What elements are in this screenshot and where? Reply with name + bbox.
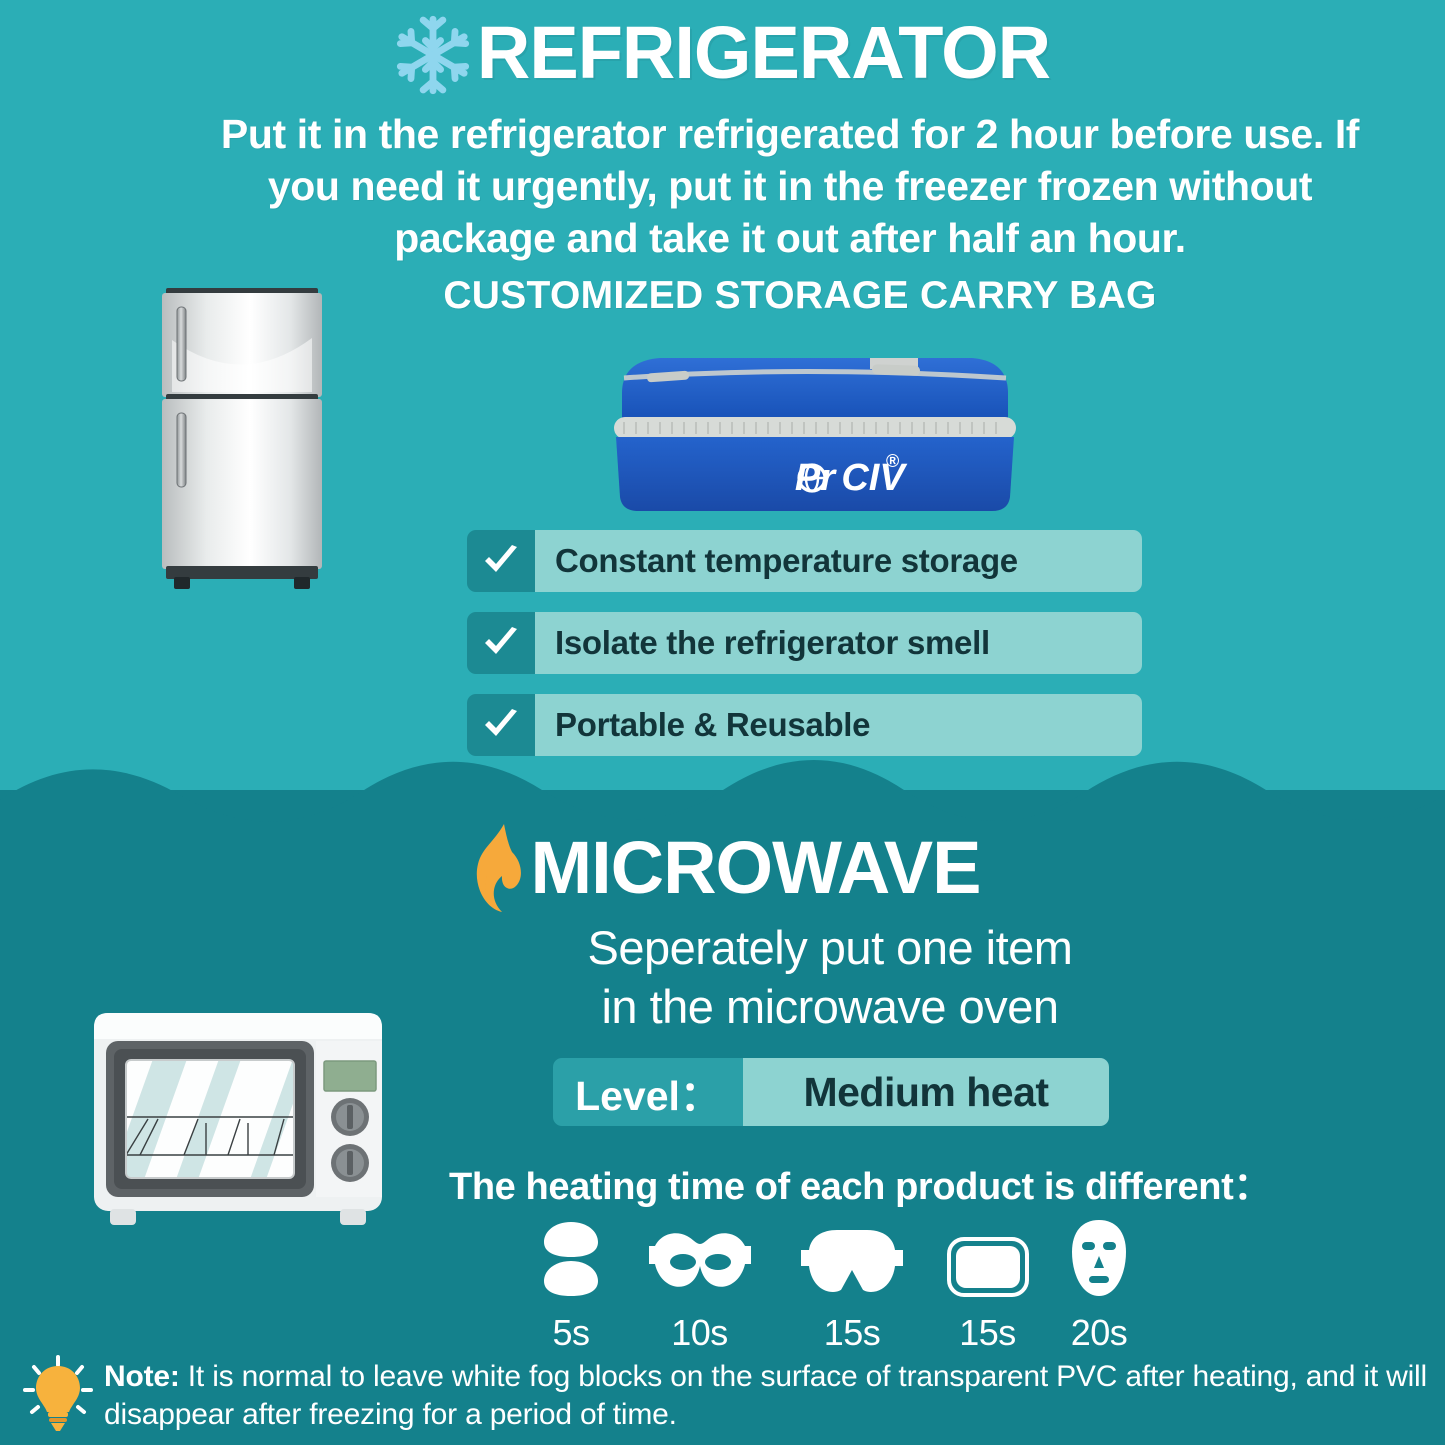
checkbox-checked [467,612,535,674]
refrigerator-header: REFRIGERATOR [0,8,1445,98]
checkbox-checked [467,694,535,756]
gel-pad-icon [946,1236,1030,1298]
microwave-oven-illustration [88,1005,388,1250]
heating-time-label: 5s [552,1312,589,1354]
check-icon [482,544,520,578]
feature-label: Isolate the refrigerator smell [535,612,1142,674]
refrigerator-instructions: Put it in the refrigerator refrigerated … [200,108,1380,264]
level-label: Level： [553,1058,743,1126]
feature-item: Portable & Reusable [467,694,1142,756]
check-icon [482,708,520,742]
heating-time-label: 10s [671,1312,728,1354]
bottom-note: Note: It is normal to leave white fog bl… [22,1352,1432,1435]
feature-checklist: Constant temperature storage Isolate the… [467,530,1142,776]
feature-item: Isolate the refrigerator smell [467,612,1142,674]
microwave-instructions-line1: Seperately put one item [430,918,1230,977]
flame-icon [464,822,536,914]
feature-item: Constant temperature storage [467,530,1142,592]
heating-time-label: 15s [824,1312,881,1354]
feature-label: Constant temperature storage [535,530,1142,592]
oven-display [324,1061,376,1091]
eye-mask-icon [641,1226,759,1298]
storage-carry-bag-image: Pr CIV ® [600,345,1030,520]
level-value: Medium heat [743,1058,1109,1126]
note-body: It is normal to leave white fog blocks o… [104,1360,1427,1431]
microwave-instructions-line2: in the microwave oven [430,977,1230,1036]
power-level-bar: Level： Medium heat [553,1058,1109,1126]
heating-time-item: 5s [540,1220,602,1354]
heating-time-note: The heating time of each product is diff… [330,1155,1390,1210]
lightbulb-icon [22,1354,94,1434]
checkbox-checked [467,530,535,592]
microwave-instructions: Seperately put one item in the microwave… [430,918,1230,1036]
note-text: Note: It is normal to leave white fog bl… [104,1352,1432,1435]
heating-time-label: 20s [1071,1312,1128,1354]
refrigerator-title: REFRIGERATOR [477,16,1050,90]
svg-text:®: ® [886,451,899,471]
eye-patch-icon [540,1220,602,1298]
note-label: Note: [104,1360,180,1393]
carry-bag-title: CUSTOMIZED STORAGE CARRY BAG [320,274,1280,318]
check-icon [482,626,520,660]
heating-time-label: 15s [959,1312,1016,1354]
snowflake-icon [395,12,471,98]
oven-knob [331,1144,369,1182]
infographic-page: REFRIGERATOR Put it in the refrigerator … [0,0,1445,1445]
heating-time-item: 10s [641,1226,759,1354]
heating-time-item: 15s [797,1226,907,1354]
feature-label: Portable & Reusable [535,694,1142,756]
goggle-mask-icon [797,1226,907,1298]
heating-time-item: 20s [1068,1218,1130,1354]
microwave-title: MICROWAVE [530,831,980,905]
bag-brand-text: Pr CIV ® [795,451,907,499]
oven-knob [331,1098,369,1136]
refrigerator-illustration [152,280,332,610]
heating-time-icon-row: 5s 10s 15s 15s [540,1218,1130,1354]
microwave-header: MICROWAVE [0,822,1445,914]
heating-time-item: 15s [946,1236,1030,1354]
face-mask-icon [1068,1218,1130,1298]
